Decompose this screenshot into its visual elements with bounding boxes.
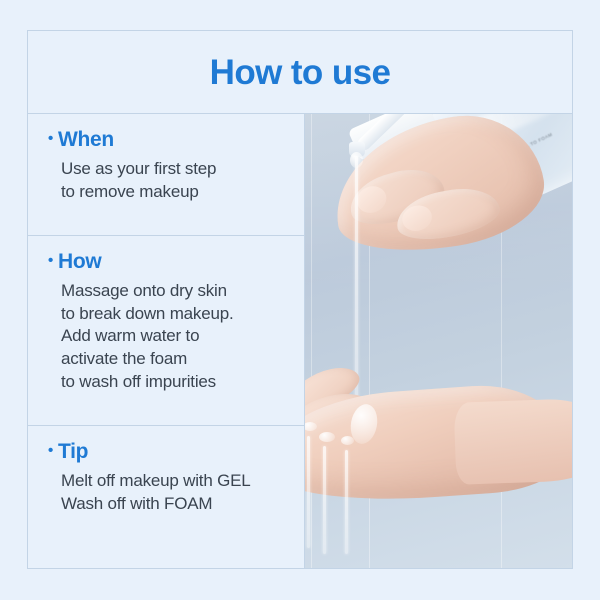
step-when: • When Use as your first step to remove … <box>28 114 304 236</box>
step-when-line-1: Use as your first step <box>61 158 304 181</box>
step-when-line-2: to remove makeup <box>61 181 304 204</box>
step-how: • How Massage onto dry skin to break dow… <box>28 236 304 426</box>
step-tip-heading: • Tip <box>48 440 304 463</box>
bullet-icon: • <box>48 131 53 146</box>
gel-on-skin <box>341 436 354 445</box>
step-how-body: Massage onto dry skin to break down make… <box>48 280 304 393</box>
page-root: How to use • When Use as your first step… <box>0 0 600 600</box>
bullet-icon: • <box>48 253 53 268</box>
step-how-line-5: to wash off impurities <box>61 371 304 394</box>
step-how-line-3: Add warm water to <box>61 325 304 348</box>
page-title: How to use <box>210 55 391 90</box>
gel-on-skin <box>319 432 335 442</box>
gel-stream <box>355 156 358 404</box>
step-tip-line-2: Wash off with FOAM <box>61 493 304 516</box>
step-when-heading: • When <box>48 128 304 151</box>
step-tip: • Tip Melt off makeup with GEL Wash off … <box>28 426 304 569</box>
gel-drip <box>323 446 326 554</box>
step-tip-body: Melt off makeup with GEL Wash off with F… <box>48 470 304 515</box>
product-usage-photo: LUVUM CLEANSING GEL TO FOAM <box>305 114 572 569</box>
step-tip-line-1: Melt off makeup with GEL <box>61 470 304 493</box>
steps-column: • When Use as your first step to remove … <box>28 114 305 569</box>
step-when-body: Use as your first step to remove makeup <box>48 158 304 203</box>
gel-drip <box>307 436 310 548</box>
step-how-line-4: activate the foam <box>61 348 304 371</box>
title-band: How to use <box>28 31 572 114</box>
step-tip-label: Tip <box>58 440 88 463</box>
wall-seam <box>311 114 312 569</box>
step-how-label: How <box>58 250 101 273</box>
gel-droplet <box>350 152 363 168</box>
step-how-line-1: Massage onto dry skin <box>61 280 304 303</box>
how-to-use-card: How to use • When Use as your first step… <box>27 30 573 569</box>
step-how-heading: • How <box>48 250 304 273</box>
step-when-label: When <box>58 128 114 151</box>
gel-drip <box>345 450 348 554</box>
body-split: • When Use as your first step to remove … <box>28 114 572 569</box>
bullet-icon: • <box>48 443 53 458</box>
wrist <box>454 397 572 485</box>
step-how-line-2: to break down makeup. <box>61 303 304 326</box>
